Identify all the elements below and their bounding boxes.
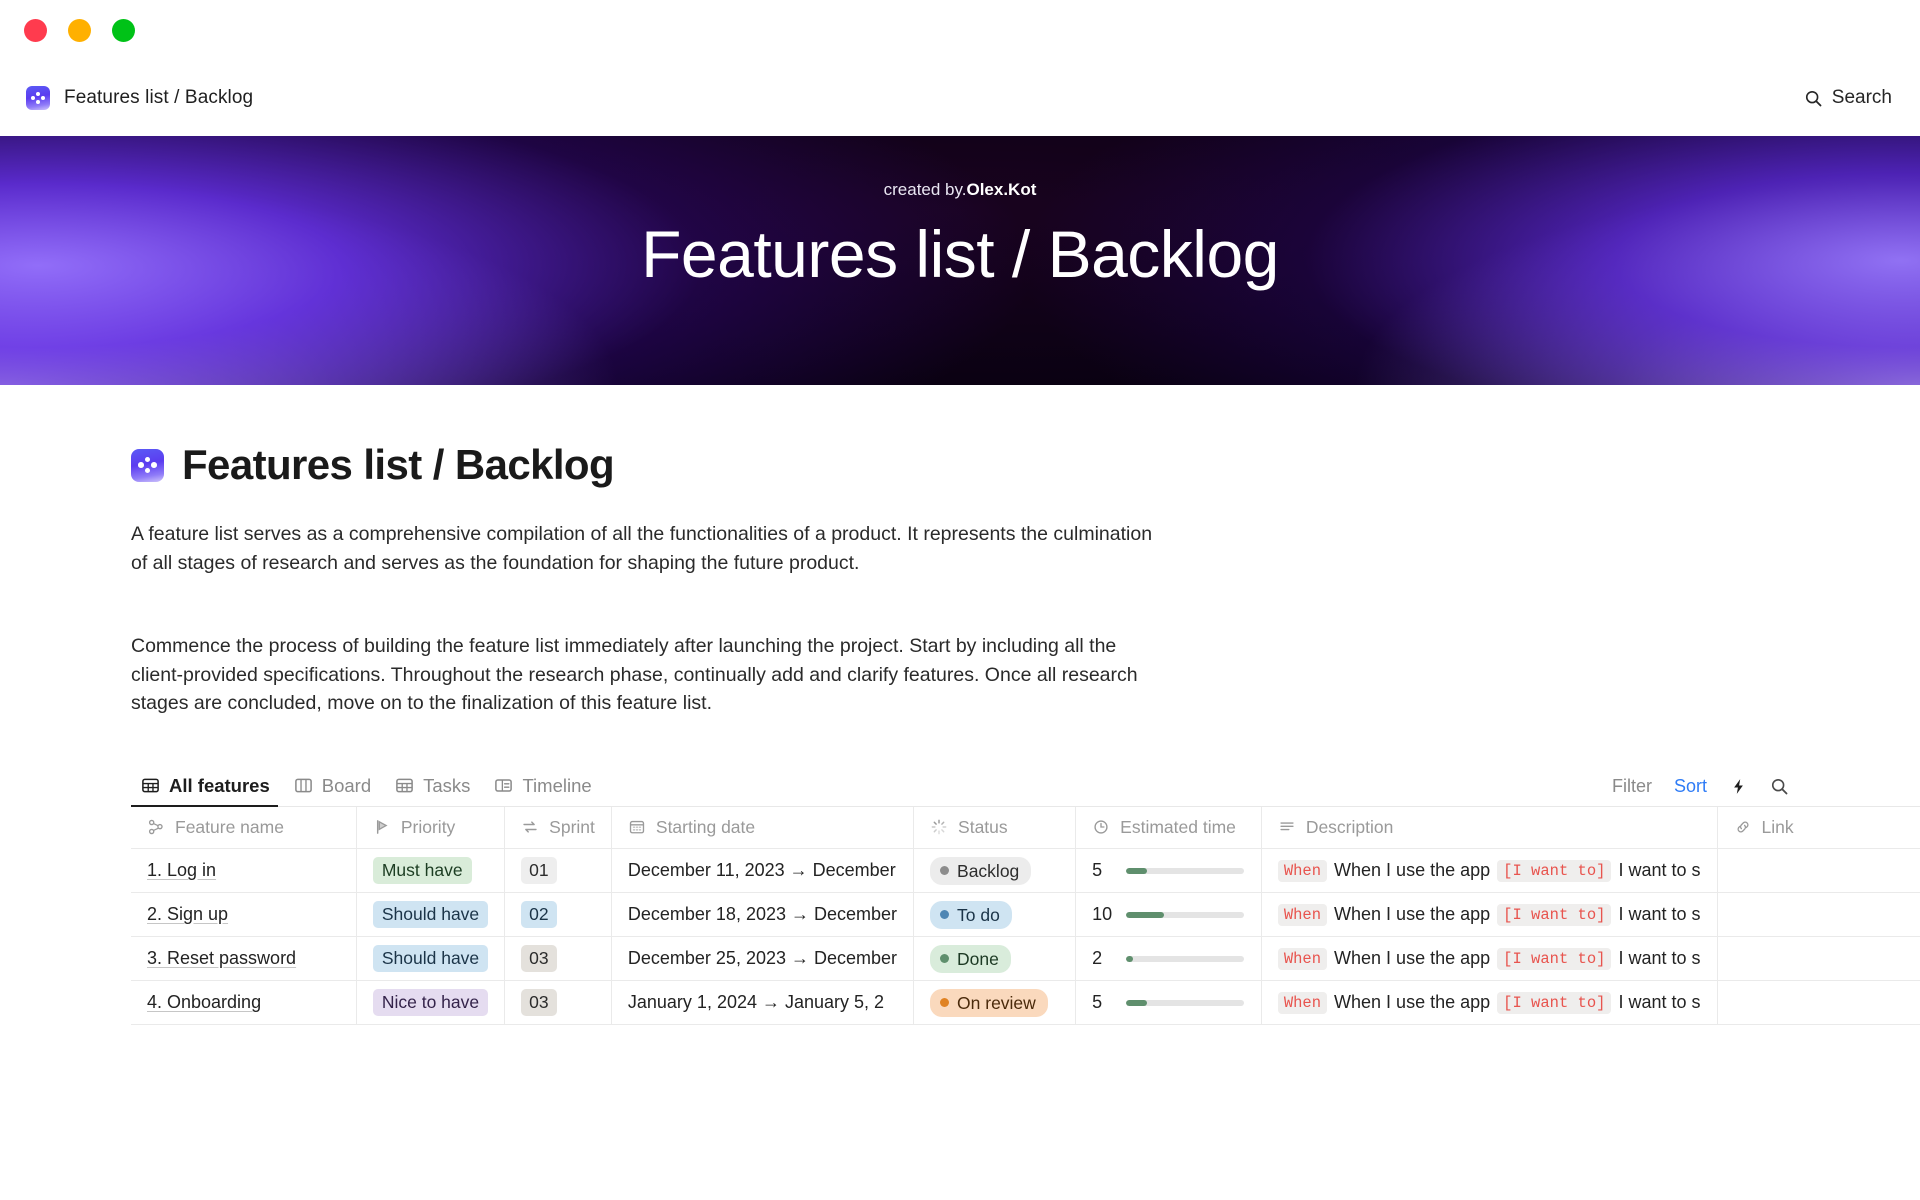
cell-link[interactable] <box>1717 981 1920 1025</box>
status-dot-icon <box>940 998 949 1007</box>
lightning-icon[interactable] <box>1729 777 1748 796</box>
description-text: When I use the app <box>1334 904 1490 925</box>
feature-name-link[interactable]: 3. Reset password <box>147 948 296 968</box>
view-tabs: All features Board Tasks <box>131 775 606 806</box>
feature-name-link[interactable]: 1. Log in <box>147 860 216 880</box>
loading-spinner-icon <box>930 818 948 836</box>
window-titlebar <box>0 0 1920 60</box>
tab-label: Board <box>322 775 371 797</box>
cell-priority[interactable]: Must have <box>356 849 504 893</box>
estimated-progress-bar <box>1126 868 1244 874</box>
cell-feature-name[interactable]: 2. Sign up <box>131 893 356 937</box>
table-head: Feature name Priority <box>131 807 1920 849</box>
estimated-value: 5 <box>1092 992 1114 1013</box>
cell-description[interactable]: When When I use the app [I want to] I wa… <box>1261 937 1717 981</box>
estimated-value: 2 <box>1092 948 1114 969</box>
description-tag: [I want to] <box>1497 860 1611 882</box>
estimated-value: 5 <box>1092 860 1114 881</box>
cell-starting-date[interactable]: January 1, 2024 → January 5, 2 <box>611 981 913 1025</box>
column-label: Description <box>1306 817 1394 838</box>
search-icon[interactable] <box>1770 777 1789 796</box>
table-icon <box>141 776 160 795</box>
status-badge: To do <box>930 901 1012 929</box>
description-text: I want to s <box>1618 992 1700 1013</box>
status-label: Backlog <box>957 860 1019 882</box>
table-row[interactable]: 3. Reset password Should have 03 Decembe… <box>131 937 1920 981</box>
status-badge: Backlog <box>930 857 1031 885</box>
tab-board[interactable]: Board <box>284 775 385 806</box>
hero-credit: created by.Olex.Kot <box>0 180 1920 200</box>
hero-title: Features list / Backlog <box>0 216 1920 292</box>
maximize-window-button[interactable] <box>112 19 135 42</box>
cell-sprint[interactable]: 01 <box>505 849 612 893</box>
description-text: When I use the app <box>1334 992 1490 1013</box>
estimated-progress-bar <box>1126 912 1244 918</box>
cell-sprint[interactable]: 02 <box>505 893 612 937</box>
cell-description[interactable]: When When I use the app [I want to] I wa… <box>1261 981 1717 1025</box>
column-header-description[interactable]: Description <box>1261 807 1717 849</box>
cell-estimated-time[interactable]: 2 <box>1076 937 1262 981</box>
priority-pill: Must have <box>373 857 472 884</box>
table-row[interactable]: 2. Sign up Should have 02 December 18, 2… <box>131 893 1920 937</box>
search-icon <box>1804 89 1823 108</box>
database-view-bar: All features Board Tasks <box>131 765 1920 807</box>
repeat-icon <box>521 818 539 836</box>
cell-sprint[interactable]: 03 <box>505 937 612 981</box>
cell-starting-date[interactable]: December 18, 2023 → December <box>611 893 913 937</box>
tab-all-features[interactable]: All features <box>131 775 284 806</box>
global-search-button[interactable]: Search <box>1804 87 1892 109</box>
table-row[interactable]: 1. Log in Must have 01 December 11, 2023… <box>131 849 1920 893</box>
cell-status[interactable]: Done <box>914 937 1076 981</box>
database-table-wrapper[interactable]: Feature name Priority <box>131 807 1920 1026</box>
cell-description[interactable]: When When I use the app [I want to] I wa… <box>1261 893 1717 937</box>
hero-banner: created by.Olex.Kot Features list / Back… <box>0 136 1920 385</box>
cell-estimated-time[interactable]: 5 <box>1076 849 1262 893</box>
cell-status[interactable]: On review <box>914 981 1076 1025</box>
estimated-progress-bar <box>1126 1000 1244 1006</box>
priority-pill: Should have <box>373 901 488 928</box>
cell-sprint[interactable]: 03 <box>505 981 612 1025</box>
description-text: I want to s <box>1618 948 1700 969</box>
tab-tasks[interactable]: Tasks <box>385 775 484 806</box>
window-traffic-lights <box>24 19 135 42</box>
page-body: Features list / Backlog A feature list s… <box>0 385 1920 1025</box>
cell-estimated-time[interactable]: 10 <box>1076 893 1262 937</box>
cell-link[interactable] <box>1717 937 1920 981</box>
status-dot-icon <box>940 954 949 963</box>
link-icon <box>1734 818 1752 836</box>
estimated-value: 10 <box>1092 904 1114 925</box>
column-header-sprint[interactable]: Sprint <box>505 807 612 849</box>
cell-starting-date[interactable]: December 11, 2023 → December <box>611 849 913 893</box>
description-tag: When <box>1278 860 1327 882</box>
tab-label: All features <box>169 775 270 797</box>
sort-button[interactable]: Sort <box>1674 776 1707 797</box>
cell-feature-name[interactable]: 1. Log in <box>131 849 356 893</box>
feature-name-link[interactable]: 4. Onboarding <box>147 992 261 1012</box>
table-body: 1. Log in Must have 01 December 11, 2023… <box>131 849 1920 1025</box>
app-toolbar: Features list / Backlog Search <box>0 60 1920 136</box>
intro-paragraph-1: A feature list serves as a comprehensive… <box>131 520 1161 577</box>
description-text: I want to s <box>1618 860 1700 881</box>
description-text: I want to s <box>1618 904 1700 925</box>
filter-button[interactable]: Filter <box>1612 776 1652 797</box>
table-row[interactable]: 4. Onboarding Nice to have 03 January 1,… <box>131 981 1920 1025</box>
description-tag: [I want to] <box>1497 904 1611 926</box>
calendar-icon <box>628 818 646 836</box>
breadcrumb-label: Features list / Backlog <box>64 87 253 109</box>
cell-link[interactable] <box>1717 893 1920 937</box>
view-tools: Filter Sort <box>1612 776 1789 806</box>
page-content: Features list / Backlog A feature list s… <box>0 441 1920 1025</box>
column-header-feature-name[interactable]: Feature name <box>131 807 356 849</box>
hero-credit-author: Olex.Kot <box>966 180 1036 199</box>
sprint-chip: 03 <box>521 945 556 972</box>
column-label: Priority <box>401 817 455 838</box>
status-label: On review <box>957 992 1036 1014</box>
cell-description[interactable]: When When I use the app [I want to] I wa… <box>1261 849 1717 893</box>
description-tag: When <box>1278 948 1327 970</box>
priority-pill: Should have <box>373 945 488 972</box>
text-lines-icon <box>1278 818 1296 836</box>
column-header-estimated-time[interactable]: Estimated time <box>1076 807 1262 849</box>
cell-priority[interactable]: Nice to have <box>356 981 504 1025</box>
board-icon <box>294 776 313 795</box>
cell-priority[interactable]: Should have <box>356 893 504 937</box>
column-label: Sprint <box>549 817 595 838</box>
description-text: When I use the app <box>1334 948 1490 969</box>
cell-feature-name[interactable]: 4. Onboarding <box>131 981 356 1025</box>
breadcrumb[interactable]: Features list / Backlog <box>26 86 253 110</box>
clock-icon <box>1092 818 1110 836</box>
hero-credit-prefix: created by. <box>884 180 967 199</box>
cell-status[interactable]: To do <box>914 893 1076 937</box>
tab-label: Tasks <box>423 775 470 797</box>
sprint-chip: 01 <box>521 857 556 884</box>
cell-link[interactable] <box>1717 849 1920 893</box>
page-title: Features list / Backlog <box>182 441 614 489</box>
status-badge: Done <box>930 945 1011 973</box>
cell-feature-name[interactable]: 3. Reset password <box>131 937 356 981</box>
status-badge: On review <box>930 989 1048 1017</box>
column-header-link[interactable]: Link <box>1717 807 1920 849</box>
tab-label: Timeline <box>522 775 591 797</box>
column-header-priority[interactable]: Priority <box>356 807 504 849</box>
cell-priority[interactable]: Should have <box>356 937 504 981</box>
column-header-starting-date[interactable]: Starting date <box>611 807 913 849</box>
cell-status[interactable]: Backlog <box>914 849 1076 893</box>
table-icon <box>395 776 414 795</box>
column-label: Link <box>1762 817 1794 838</box>
estimated-progress-bar <box>1126 956 1244 962</box>
column-label: Starting date <box>656 817 755 838</box>
description-tag: [I want to] <box>1497 948 1611 970</box>
cell-starting-date[interactable]: December 25, 2023 → December <box>611 937 913 981</box>
table-header-row: Feature name Priority <box>131 807 1920 849</box>
sprint-chip: 03 <box>521 989 556 1016</box>
page-header: Features list / Backlog <box>131 441 1920 489</box>
column-label: Status <box>958 817 1008 838</box>
column-label: Estimated time <box>1120 817 1236 838</box>
column-header-status[interactable]: Status <box>914 807 1076 849</box>
description-text: When I use the app <box>1334 860 1490 881</box>
intro-paragraph-2: Commence the process of building the fea… <box>131 632 1161 718</box>
description-tag: [I want to] <box>1497 992 1611 1014</box>
tab-timeline[interactable]: Timeline <box>484 775 605 806</box>
sprint-chip: 02 <box>521 901 556 928</box>
minimize-window-button[interactable] <box>68 19 91 42</box>
status-dot-icon <box>940 910 949 919</box>
description-tag: When <box>1278 904 1327 926</box>
features-table: Feature name Priority <box>131 807 1920 1026</box>
status-label: To do <box>957 904 1000 926</box>
cell-estimated-time[interactable]: 5 <box>1076 981 1262 1025</box>
column-label: Feature name <box>175 817 284 838</box>
status-dot-icon <box>940 866 949 875</box>
description-tag: When <box>1278 992 1327 1014</box>
feature-name-link[interactable]: 2. Sign up <box>147 904 228 924</box>
status-label: Done <box>957 948 999 970</box>
title-relation-icon <box>147 818 165 836</box>
priority-pill: Nice to have <box>373 989 488 1016</box>
close-window-button[interactable] <box>24 19 47 42</box>
timeline-icon <box>494 776 513 795</box>
global-search-label: Search <box>1832 87 1892 109</box>
dice-four-dots-icon <box>131 449 164 482</box>
flag-icon <box>373 818 391 836</box>
dice-four-dots-icon <box>26 86 50 110</box>
